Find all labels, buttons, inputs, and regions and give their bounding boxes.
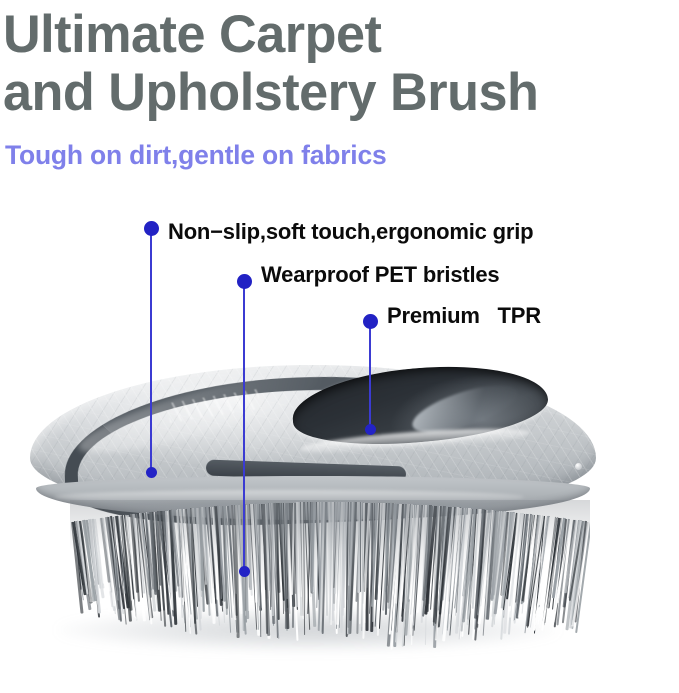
product-infographic: Ultimate Carpet and Upholstery Brush Tou…	[0, 0, 679, 693]
bristle	[360, 502, 361, 592]
bristle-field	[70, 500, 590, 650]
headline-line-2: and Upholstery Brush	[0, 62, 669, 124]
callout-leader-line-3	[369, 327, 371, 431]
callout-label-1: Non−slip,soft touch,ergonomic grip	[168, 219, 533, 245]
brush-illustration	[0, 340, 679, 693]
headline-block: Ultimate Carpet and Upholstery Brush	[0, 0, 679, 124]
callout-label-3: Premium TPR	[387, 303, 541, 329]
callout-endpoint-3	[365, 424, 376, 435]
callout-leader-line-2	[243, 287, 245, 575]
callout-marker-3[interactable]	[363, 314, 378, 329]
rim-nub	[575, 463, 582, 470]
callout-marker-2[interactable]	[237, 274, 252, 289]
callout-marker-1[interactable]	[144, 221, 159, 236]
subtitle: Tough on dirt,gentle on fabrics	[5, 139, 387, 171]
callout-endpoint-2	[239, 566, 250, 577]
callout-label-2: Wearproof PET bristles	[261, 262, 499, 288]
headline-line-1: Ultimate Carpet	[0, 0, 669, 66]
callout-endpoint-1	[146, 467, 157, 478]
callout-leader-line-1	[150, 234, 152, 472]
